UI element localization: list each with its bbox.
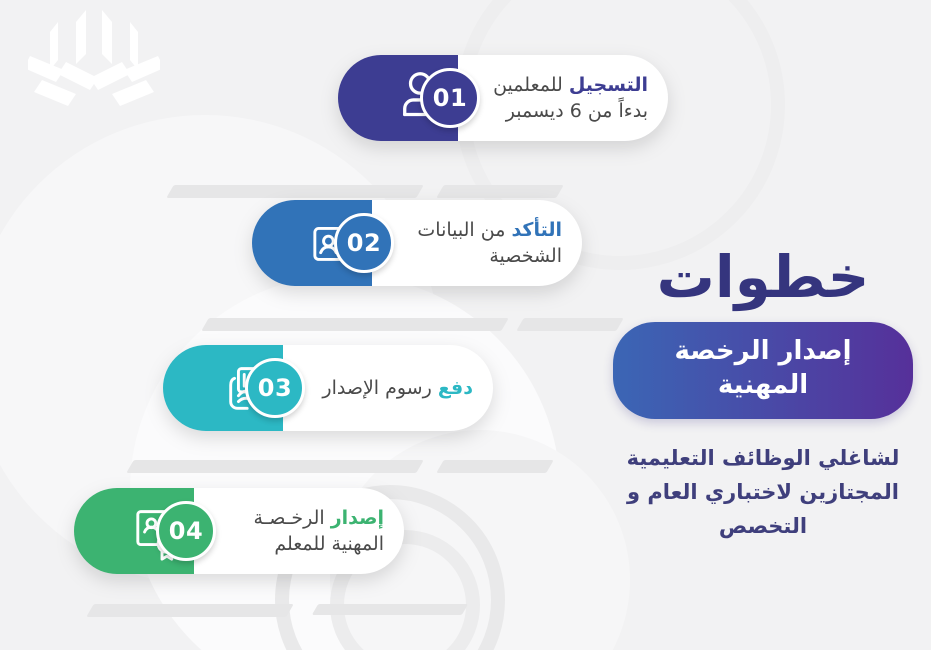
step-rest: من البيانات: [417, 219, 511, 241]
step-rest: الرخـصـة: [254, 507, 331, 529]
step-number-badge: 04: [156, 501, 216, 561]
step-tail: 01: [338, 55, 458, 141]
step-rest: رسوم الإصدار: [322, 377, 437, 399]
step-label: دفع رسوم الإصدار: [322, 375, 473, 401]
subject-pill: إصدار الرخصة المهنية: [613, 322, 913, 419]
step-label: إصدار الرخـصـة المهنية للمعلم: [254, 505, 384, 557]
pill-line-2: المهنية: [718, 370, 808, 400]
step-subline: المهنية للمعلم: [254, 531, 384, 557]
step-subline: بدءاً من 6 ديسمبر: [493, 98, 648, 124]
step-number-badge: 01: [420, 68, 480, 128]
subtitle: لشاغلي الوظائف التعليمية المجتازين لاختب…: [613, 441, 913, 543]
step-label: التسجيل للمعلمين بدءاً من 6 ديسمبر: [493, 72, 648, 124]
step-rest: للمعلمين: [493, 74, 569, 96]
step-keyword: التأكد: [511, 219, 562, 241]
step-text-panel: التسجيل للمعلمين بدءاً من 6 ديسمبر: [458, 55, 668, 141]
step-card-3[interactable]: دفع رسوم الإصدار 03: [163, 345, 493, 431]
step-tail: 02: [252, 200, 372, 286]
step-label: التأكد من البيانات الشخصية: [417, 217, 562, 269]
step-text-panel: إصدار الرخـصـة المهنية للمعلم: [194, 488, 404, 574]
step-keyword: التسجيل: [569, 74, 648, 96]
title-column: خطوات إصدار الرخصة المهنية لشاغلي الوظائ…: [613, 248, 913, 543]
step-number-badge: 02: [334, 213, 394, 273]
subtitle-line-3: التخصص: [719, 514, 807, 538]
step-card-4[interactable]: إصدار الرخـصـة المهنية للمعلم 04: [74, 488, 404, 574]
subtitle-line-1: لشاغلي الوظائف التعليمية: [627, 446, 900, 470]
step-subline: الشخصية: [417, 243, 562, 269]
step-text-panel: دفع رسوم الإصدار: [283, 345, 493, 431]
step-card-1[interactable]: التسجيل للمعلمين بدءاً من 6 ديسمبر 01: [338, 55, 668, 141]
step-tail: 04: [74, 488, 194, 574]
pill-line-1: إصدار الرخصة: [675, 336, 852, 366]
step-text-panel: التأكد من البيانات الشخصية: [372, 200, 582, 286]
subtitle-line-2: المجتازين لاختباري العام و: [627, 480, 899, 504]
step-keyword: دفع: [438, 377, 473, 399]
step-number-badge: 03: [245, 358, 305, 418]
infographic-poster: التسجيل للمعلمين بدءاً من 6 ديسمبر 01: [0, 0, 931, 650]
page-title: خطوات: [613, 248, 913, 306]
step-keyword: إصدار: [331, 507, 384, 529]
step-tail: 03: [163, 345, 283, 431]
step-card-2[interactable]: التأكد من البيانات الشخصية 02: [252, 200, 582, 286]
